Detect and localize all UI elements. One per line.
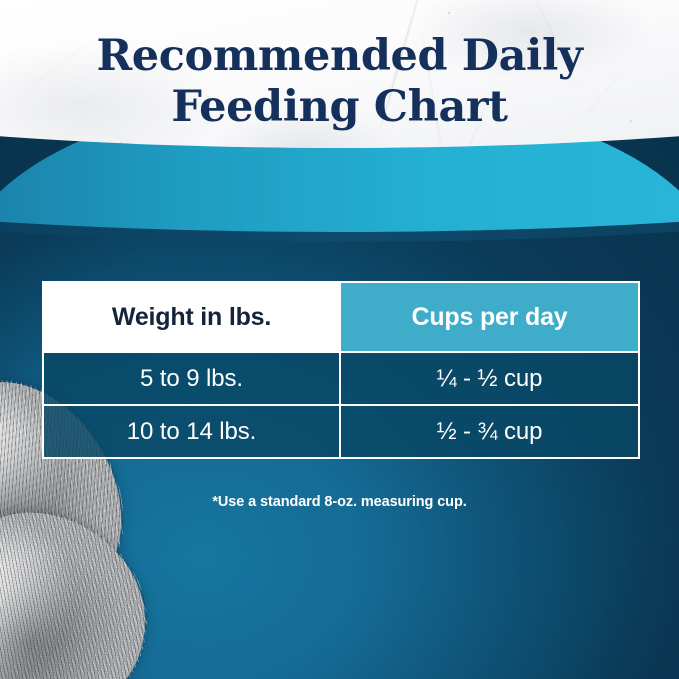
cell-weight-range-1: 5 to 9 lbs.	[43, 352, 340, 405]
table-header-row: Weight in lbs. Cups per day	[43, 282, 639, 352]
table-row: 5 to 9 lbs. ¼ - ½ cup	[43, 352, 639, 405]
cell-cups-range-2: ½ - ¾ cup	[340, 405, 639, 458]
page-title: Recommended Daily Feeding Chart	[0, 31, 679, 133]
page-title-line-1: Recommended Daily	[0, 31, 679, 82]
feeding-chart-poster: Recommended Daily Feeding Chart Weight i…	[0, 0, 679, 679]
marble-speck	[448, 12, 450, 14]
cell-cups-range-1: ¼ - ½ cup	[340, 352, 639, 405]
column-header-weight: Weight in lbs.	[43, 282, 340, 352]
column-header-cups: Cups per day	[340, 282, 639, 352]
footnote-text: *Use a standard 8-oz. measuring cup.	[0, 494, 679, 510]
page-title-line-2: Feeding Chart	[0, 82, 679, 133]
table-row: 10 to 14 lbs. ½ - ¾ cup	[43, 405, 639, 458]
cell-weight-range-2: 10 to 14 lbs.	[43, 405, 340, 458]
feeding-chart-table: Weight in lbs. Cups per day 5 to 9 lbs. …	[42, 281, 640, 459]
